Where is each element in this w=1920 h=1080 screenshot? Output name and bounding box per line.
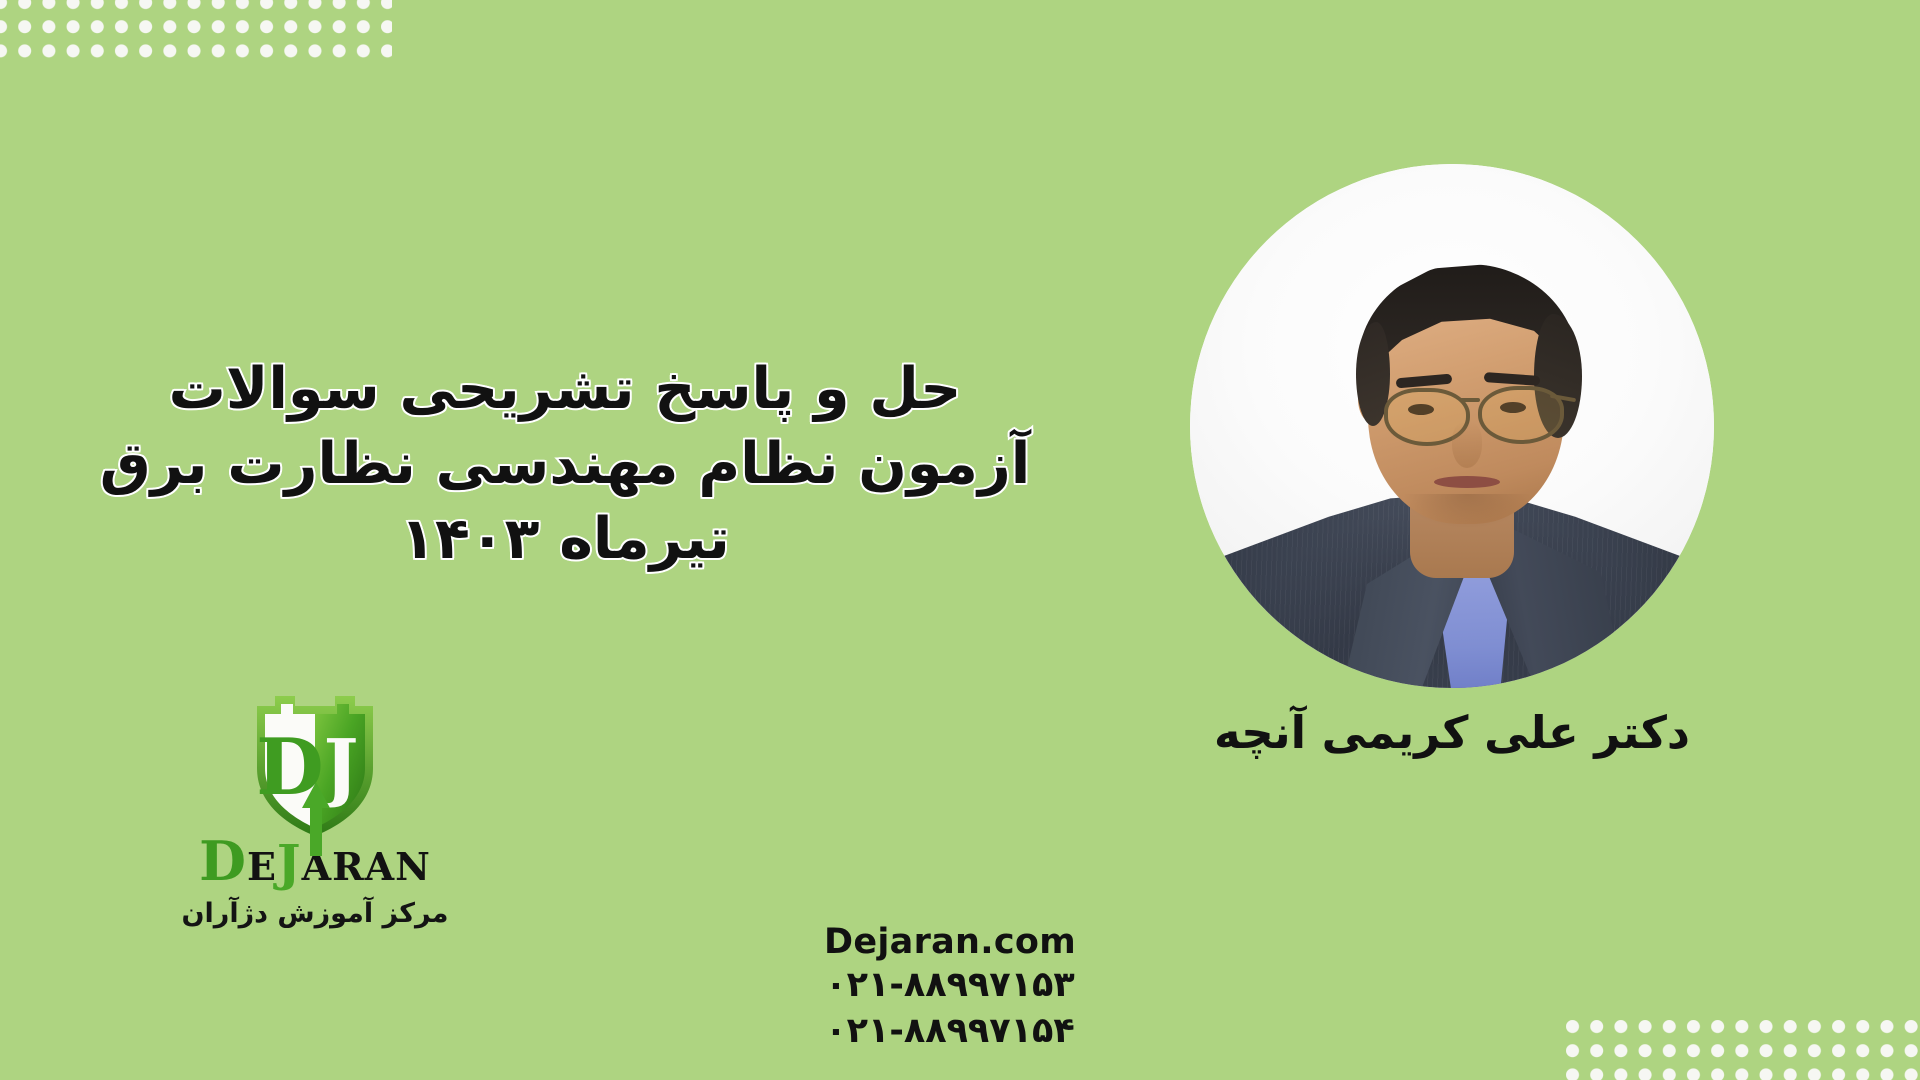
dot-grid-top-left-icon (0, 0, 392, 64)
logo-wordmark-d: D (199, 829, 247, 893)
portrait-photo (1190, 164, 1714, 688)
dot-grid-bottom-right-icon (1566, 1020, 1920, 1080)
shield-icon: D J (249, 688, 381, 838)
phone-number-1[interactable]: ۰۲۱-۸۸۹۹۷۱۵۳ (690, 963, 1210, 1009)
presenter-avatar (1190, 164, 1714, 688)
mouth-shape (1434, 476, 1500, 488)
logo-wordmark-e: E (247, 844, 277, 889)
glasses-bridge (1460, 398, 1480, 402)
presenter-name: دکتر علی کریمی آنچه (1190, 706, 1714, 759)
logo-subtitle: مرکز آموزش دژآران (170, 898, 460, 929)
chin-shadow-shape (1404, 494, 1530, 528)
logo-wordmark-aran: ARAN (302, 844, 431, 889)
contact-info: Dejaran.com ۰۲۱-۸۸۹۹۷۱۵۳ ۰۲۱-۸۸۹۹۷۱۵۴ (690, 922, 1210, 1054)
page-title: حل و پاسخ تشریحی سوالات آزمون نظام مهندس… (10, 352, 1120, 578)
nose-shape (1452, 422, 1482, 468)
logo-wordmark: DEJARAN (170, 834, 460, 888)
headline-line-1: حل و پاسخ تشریحی سوالات (10, 352, 1120, 427)
phone-number-2[interactable]: ۰۲۱-۸۸۹۹۷۱۵۴ (690, 1009, 1210, 1055)
logo-wordmark-j: J (277, 833, 302, 892)
brand-logo: D J DEJARAN مرکز آموزش دژآران (170, 688, 460, 929)
svg-text:D: D (256, 722, 324, 813)
svg-text:J: J (317, 724, 358, 810)
headline-line-2: آزمون نظام مهندسی نظارت برق تیرماه ۱۴۰۳ (10, 427, 1120, 577)
poster-canvas: حل و پاسخ تشریحی سوالات آزمون نظام مهندس… (0, 0, 1920, 1080)
website-url[interactable]: Dejaran.com (690, 922, 1210, 963)
